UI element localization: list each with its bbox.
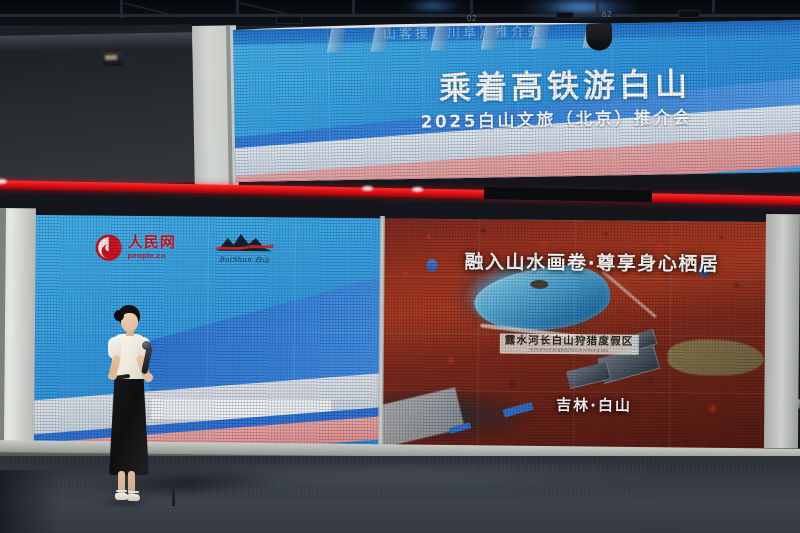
red-accent-light-strip-group bbox=[0, 180, 800, 206]
truss-vertical bbox=[470, 0, 473, 14]
resort-watermark: 露水河长白山狩猎度假区 lushuihechangbaishanshoulied… bbox=[500, 333, 639, 354]
presenter-hand-left bbox=[108, 372, 117, 380]
place-label: 吉林·白山 bbox=[556, 394, 632, 416]
truss-label-02: 02 bbox=[467, 14, 477, 23]
watermark-pinyin-text: lushuihechangbaishanshouliedujiaqu bbox=[505, 347, 634, 354]
acoustic-baffle bbox=[327, 28, 346, 52]
presenter bbox=[100, 305, 176, 505]
red-led-strip bbox=[0, 180, 800, 205]
people-cn-chinese-text: 人民网 bbox=[128, 235, 176, 250]
truss-label-62: 62 bbox=[602, 10, 612, 19]
presenter-shoe-strap-left bbox=[116, 490, 127, 492]
slide-headline: 融入山水画卷·尊享身心栖居 bbox=[464, 247, 719, 276]
hot-air-balloon bbox=[426, 259, 437, 272]
ceiling-blue-light-glow-secondary bbox=[398, 0, 468, 14]
lower-wall-right-panel: 融入山水画卷·尊享身心栖居 露水河长白山狩猎度假区 lushuihechangb… bbox=[381, 218, 768, 450]
lower-wall-left-panel: 人民网 people.cn BaiShan 白山 bbox=[31, 215, 383, 446]
ceiling-blue-light-glow bbox=[520, 0, 640, 20]
truss-vertical bbox=[712, 0, 715, 13]
presenter-skirt bbox=[109, 375, 149, 475]
people-cn-wordmark: 人民网 people.cn bbox=[128, 235, 176, 260]
stage-scene: 02 62 山客援 川阜）推介会 乘着高铁游白山 2025白山文旅（北京）推介会 bbox=[0, 0, 800, 533]
truss-vertical bbox=[596, 0, 599, 13]
spotlight-lens bbox=[105, 55, 117, 60]
presenter-shoe-right bbox=[127, 494, 140, 501]
people-cn-logo: 人民网 people.cn bbox=[95, 233, 176, 262]
mountain-peaks-icon bbox=[216, 232, 274, 255]
strip-specular-highlight bbox=[412, 187, 423, 192]
acoustic-baffle bbox=[371, 27, 390, 51]
truss-vertical bbox=[236, 0, 239, 16]
presenter-shoe-strap-right bbox=[128, 491, 139, 493]
lake-island bbox=[530, 280, 548, 289]
right-wall-panel bbox=[764, 214, 800, 448]
baishan-wordmark-text: BaiShan 白山 bbox=[220, 255, 270, 265]
red-strip-dark-gap bbox=[484, 187, 652, 202]
truss-clamp bbox=[276, 16, 302, 24]
truss-vertical bbox=[352, 0, 355, 15]
acoustic-baffle bbox=[481, 25, 500, 49]
truss-clamp bbox=[678, 10, 700, 18]
ceiling-camera-dome bbox=[586, 23, 612, 50]
presenter-hair-bun bbox=[114, 310, 124, 321]
floor-left-vignette bbox=[0, 470, 60, 533]
microphone-head bbox=[142, 341, 151, 350]
strip-specular-highlight bbox=[362, 186, 373, 191]
baishan-logo: BaiShan 白山 bbox=[216, 232, 274, 266]
people-cn-english-text: people.cn bbox=[128, 252, 176, 260]
acoustic-baffle bbox=[431, 26, 450, 50]
truss-vertical bbox=[120, 0, 123, 18]
people-cn-mark-icon bbox=[95, 233, 123, 261]
acoustic-baffle bbox=[531, 24, 550, 48]
presenter-hand-right bbox=[144, 373, 153, 382]
truss-clamp bbox=[556, 12, 574, 19]
logo-row: 人民网 people.cn BaiShan 白山 bbox=[95, 231, 274, 266]
